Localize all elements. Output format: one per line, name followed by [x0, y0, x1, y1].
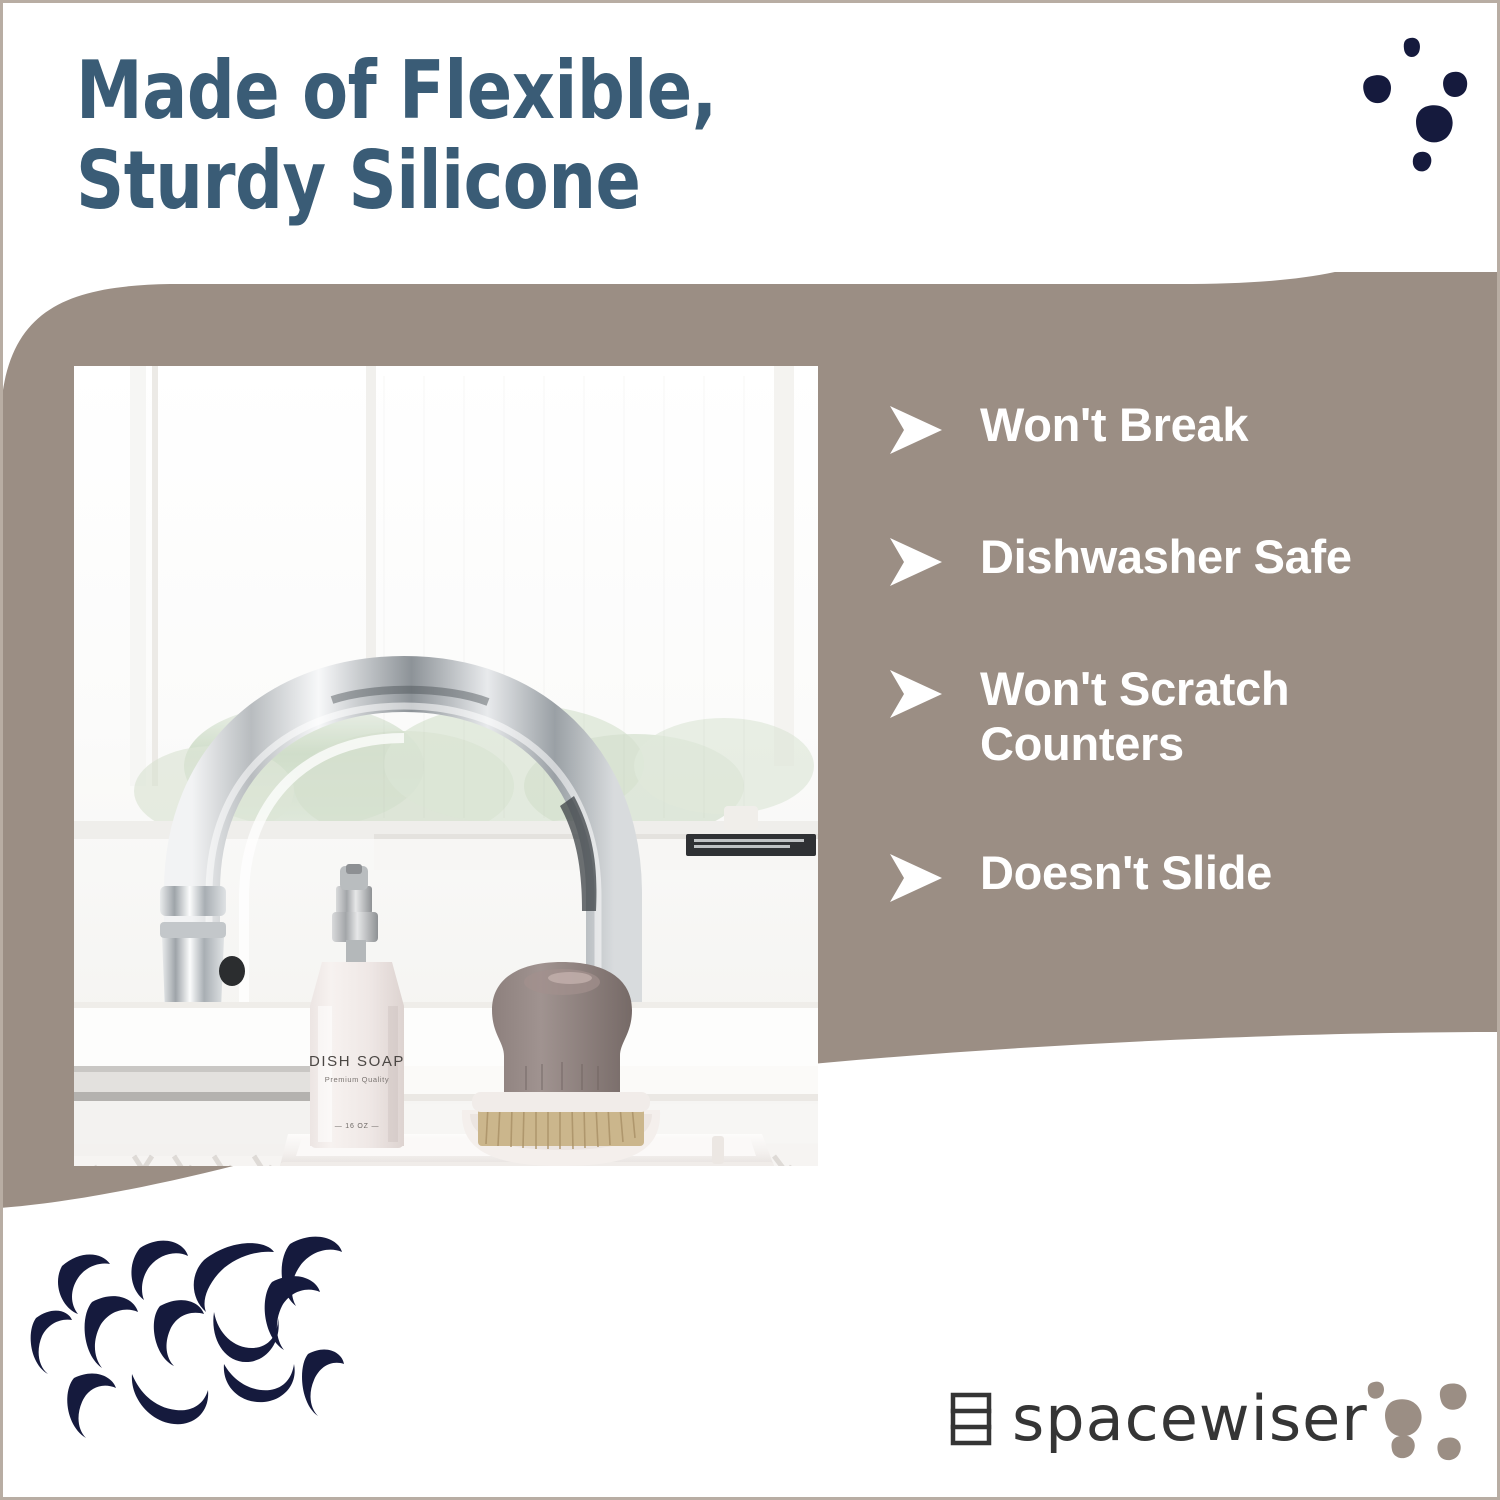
feature-list: Won't Break Dishwasher Safe Won't Scratc…	[888, 398, 1408, 904]
list-item: Dishwasher Safe	[888, 530, 1408, 588]
arrow-right-icon	[888, 668, 944, 720]
arrow-right-icon	[888, 536, 944, 588]
product-photo: DISH SOAP Premium Quality — 16 OZ —	[74, 366, 818, 1166]
feature-label: Dishwasher Safe	[980, 530, 1352, 585]
taupe-dots-decoration	[1352, 1376, 1487, 1486]
feature-label: Won't Break	[980, 398, 1248, 453]
arrow-right-icon	[888, 852, 944, 904]
svg-text:— 16 OZ —: — 16 OZ —	[335, 1123, 380, 1130]
arrow-right-icon	[888, 404, 944, 456]
svg-text:DISH SOAP: DISH SOAP	[309, 1053, 405, 1070]
list-item: Doesn't Slide	[888, 846, 1408, 904]
shelf-icon	[948, 1391, 994, 1447]
brand-logo: spacewiser	[948, 1388, 1368, 1450]
infographic-page: Made of Flexible, Sturdy Silicone	[0, 0, 1500, 1500]
page-title: Made of Flexible, Sturdy Silicone	[76, 46, 913, 225]
headline-line-1: Made of Flexible,	[76, 46, 913, 136]
brand-name: spacewiser	[1012, 1388, 1368, 1450]
crescent-pattern-decoration	[28, 1222, 368, 1472]
feature-label: Won't Scratch Counters	[980, 662, 1408, 772]
headline-line-2: Sturdy Silicone	[76, 136, 913, 226]
svg-text:Premium Quality: Premium Quality	[325, 1075, 389, 1084]
feature-label: Doesn't Slide	[980, 846, 1272, 901]
list-item: Won't Scratch Counters	[888, 662, 1408, 772]
list-item: Won't Break	[888, 398, 1408, 456]
navy-dots-decoration	[1358, 28, 1488, 178]
